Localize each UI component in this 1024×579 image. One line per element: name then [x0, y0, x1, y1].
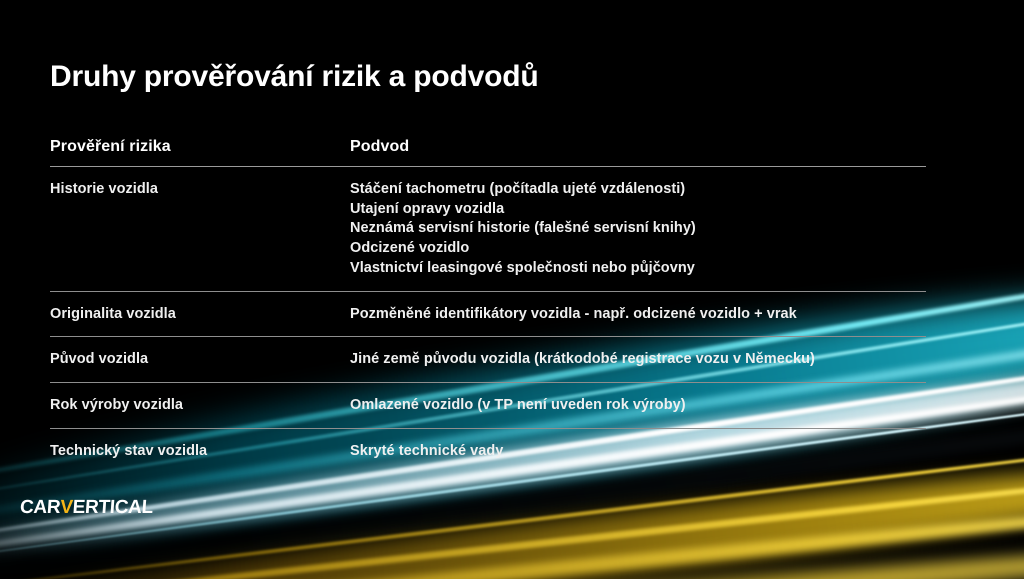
column-header-risk: Prověření rizika	[50, 138, 350, 156]
fraud-cell: Omlazené vozidlo (v TP není uveden rok v…	[350, 396, 926, 416]
list-item: Pozměněné identifikátory vozidla - např.…	[350, 305, 926, 325]
column-header-fraud: Podvod	[350, 138, 926, 156]
fraud-cell: Stáčení tachometru (počítadla ujeté vzdá…	[350, 180, 926, 279]
list-item: Utajení opravy vozidla	[350, 200, 926, 220]
risk-label: Rok výroby vozidla	[50, 396, 350, 415]
risk-label: Technický stav vozidla	[50, 442, 350, 461]
fraud-list: Skryté technické vady	[350, 442, 926, 462]
logo-text-car: car	[19, 497, 61, 519]
fraud-cell: Skryté technické vady	[350, 442, 926, 462]
table-header-row: Prověření rizika Podvod	[50, 138, 926, 167]
logo-text-ertical: ertical	[72, 497, 154, 519]
list-item: Odcizené vozidlo	[350, 239, 926, 259]
table-row: Historie vozidla Stáčení tachometru (poč…	[50, 167, 926, 292]
fraud-list: Stáčení tachometru (počítadla ujeté vzdá…	[350, 180, 926, 279]
list-item: Neznámá servisní historie (falešné servi…	[350, 219, 926, 239]
fraud-cell: Pozměněné identifikátory vozidla - např.…	[350, 305, 926, 325]
fraud-list: Jiné země původu vozidla (krátkodobé reg…	[350, 350, 926, 370]
table-row: Původ vozidla Jiné země původu vozidla (…	[50, 337, 926, 383]
list-item: Vlastnictví leasingové společnosti nebo …	[350, 259, 926, 279]
risk-label: Původ vozidla	[50, 350, 350, 369]
list-item: Stáčení tachometru (počítadla ujeté vzdá…	[350, 180, 926, 200]
fraud-list: Pozměněné identifikátory vozidla - např.…	[350, 305, 926, 325]
fraud-cell: Jiné země původu vozidla (krátkodobé reg…	[350, 350, 926, 370]
table-row: Originalita vozidla Pozměněné identifiká…	[50, 292, 926, 338]
list-item: Skryté technické vady	[350, 442, 926, 462]
fraud-list: Omlazené vozidlo (v TP není uveden rok v…	[350, 396, 926, 416]
list-item: Omlazené vozidlo (v TP není uveden rok v…	[350, 396, 926, 416]
risk-label: Originalita vozidla	[50, 305, 350, 324]
risk-fraud-table: Prověření rizika Podvod Historie vozidla…	[50, 138, 926, 473]
slide-content: Druhy prověřování rizik a podvodů Prověř…	[0, 0, 1024, 579]
page-title: Druhy prověřování rizik a podvodů	[50, 60, 539, 94]
risk-label: Historie vozidla	[50, 180, 350, 199]
carvertical-logo: car V ertical	[19, 497, 153, 519]
table-row: Rok výroby vozidla Omlazené vozidlo (v T…	[50, 383, 926, 429]
table-row: Technický stav vozidla Skryté technické …	[50, 429, 926, 474]
list-item: Jiné země původu vozidla (krátkodobé reg…	[350, 350, 926, 370]
